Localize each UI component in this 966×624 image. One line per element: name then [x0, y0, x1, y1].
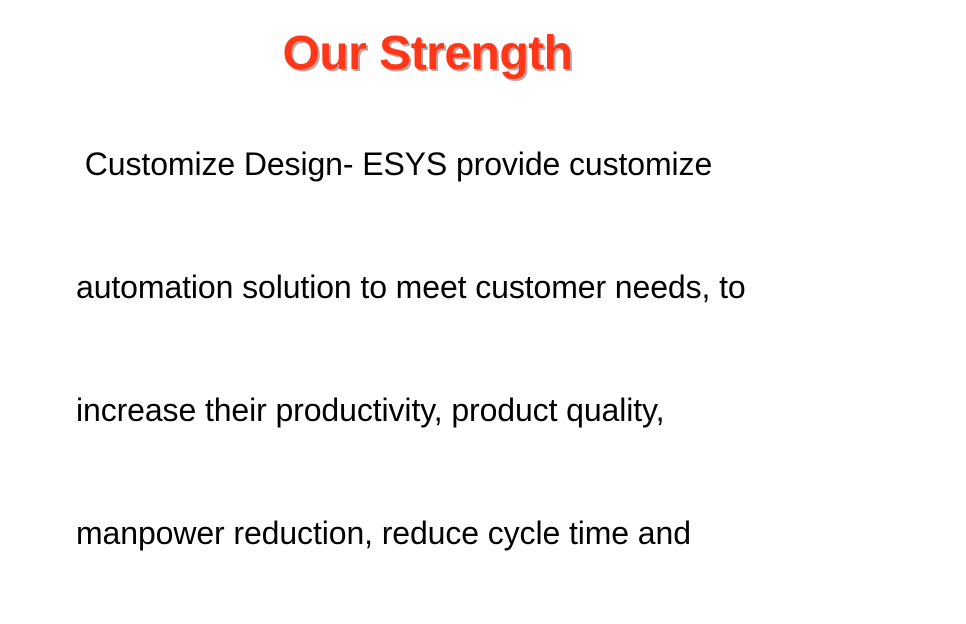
paragraph-line: manpower reduction, reduce cycle time an… — [76, 513, 936, 554]
paragraph-line: Customize Design- ESYS provide customize — [76, 144, 936, 185]
paragraph-line: automation solution to meet customer nee… — [76, 267, 936, 308]
slide-body: Customize Design- ESYS provide customize… — [76, 62, 936, 624]
paragraph-line: increase their productivity, product qua… — [76, 390, 936, 431]
paragraph-customize-design: Customize Design- ESYS provide customize… — [76, 62, 936, 624]
slide-canvas: Our Strength Customize Design- ESYS prov… — [0, 0, 966, 624]
